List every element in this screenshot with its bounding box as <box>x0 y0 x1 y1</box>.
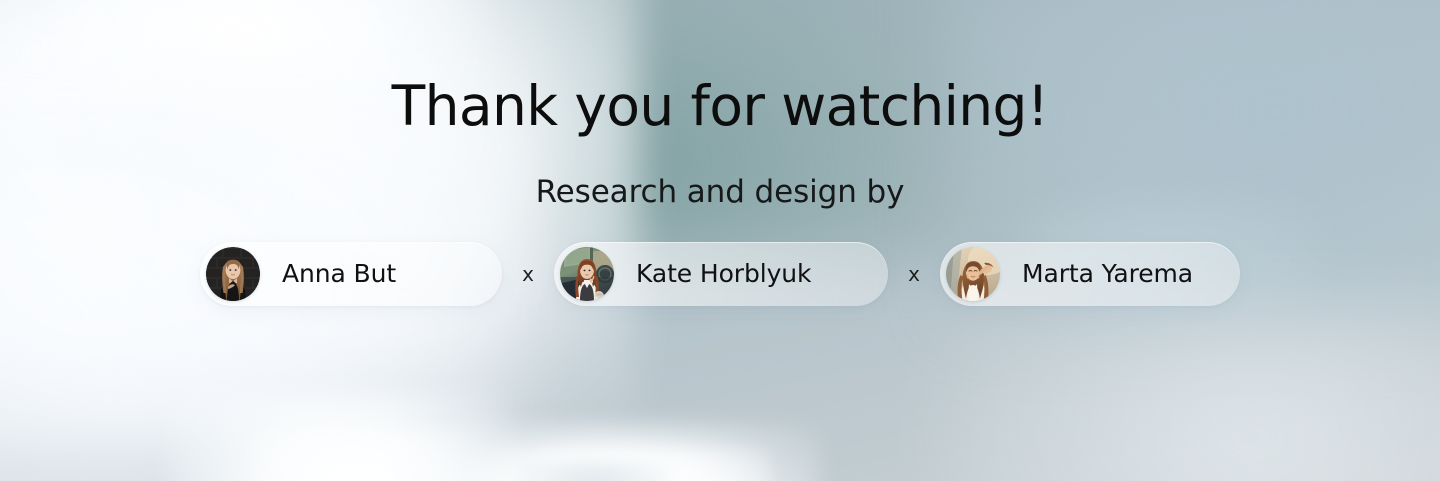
credit-pill-kate-horblyuk[interactable]: Kate Horblyuk <box>554 242 888 306</box>
page-subtitle: Research and design by <box>0 170 1440 214</box>
page-title: Thank you for watching! <box>0 70 1440 142</box>
credit-separator-1: x <box>502 262 554 286</box>
avatar-kate-horblyuk <box>560 247 614 301</box>
credit-name-label: Marta Yarema <box>1022 259 1193 289</box>
slide-content: Thank you for watching! Research and des… <box>0 0 1440 481</box>
avatar-marta-yarema <box>946 247 1000 301</box>
credit-pill-anna-but[interactable]: Anna But <box>200 242 502 306</box>
slide-canvas: Thank you for watching! Research and des… <box>0 0 1440 481</box>
credit-pill-marta-yarema[interactable]: Marta Yarema <box>940 242 1240 306</box>
avatar-anna-but <box>206 247 260 301</box>
credit-separator-2: x <box>888 262 940 286</box>
credit-name-label: Anna But <box>282 259 396 289</box>
credit-name-label: Kate Horblyuk <box>636 259 811 289</box>
credits-row: Anna But x <box>0 242 1440 306</box>
